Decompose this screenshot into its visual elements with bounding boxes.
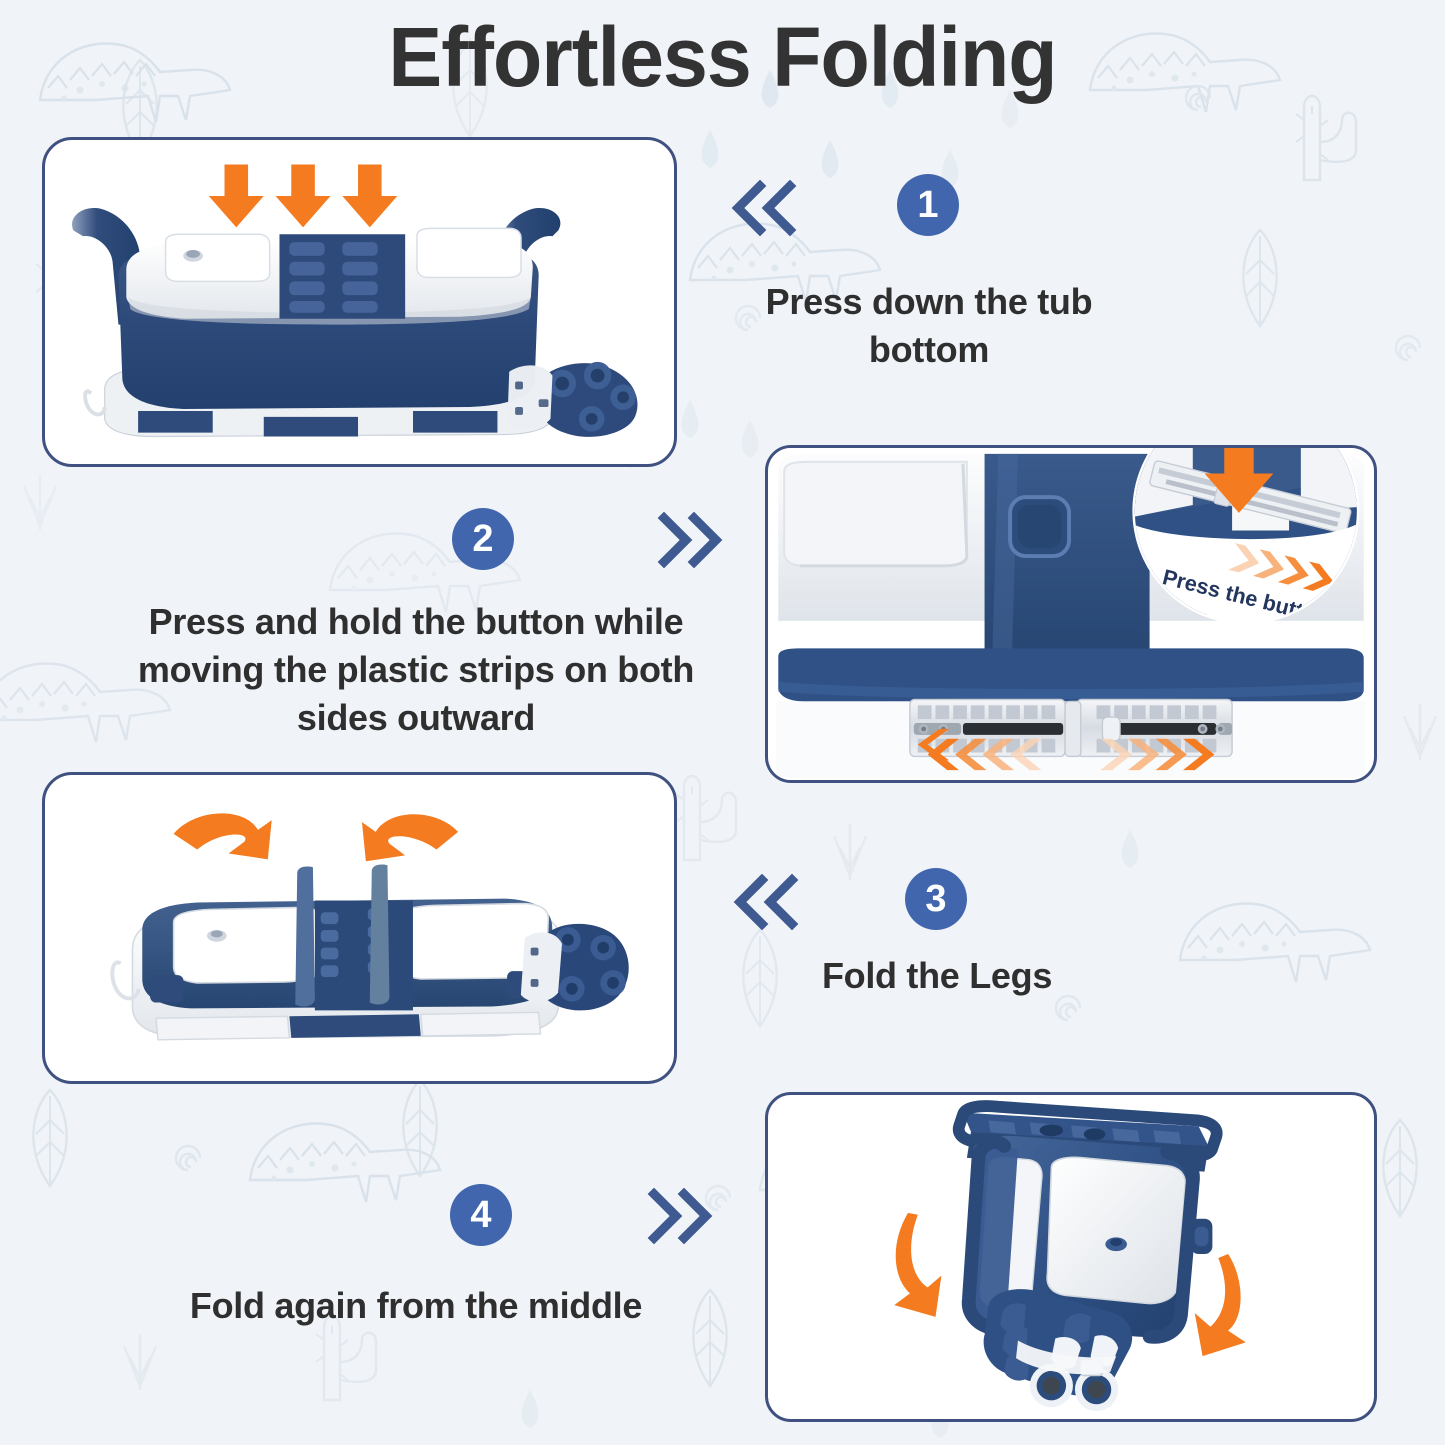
bathtub-folded-upright-illustration <box>768 1095 1374 1419</box>
bathtub-button-closeup-illustration: Press the button <box>768 448 1374 780</box>
orange-down-arrows <box>209 165 398 228</box>
orange-curved-arrows-inward <box>174 813 458 861</box>
chevron-double-right-icon <box>650 512 724 568</box>
chevron-double-right-icon <box>640 1188 714 1244</box>
chevron-double-left-icon <box>732 874 806 930</box>
step-4-text: Fold again from the middle <box>100 1282 732 1330</box>
chevron-double-left-icon <box>730 180 804 236</box>
photo-card-step-4 <box>765 1092 1377 1422</box>
bathtub-flattened-illustration <box>45 775 674 1081</box>
step-2-number: 2 <box>452 508 514 570</box>
step-3-number: 3 <box>905 868 967 930</box>
step-4-number: 4 <box>450 1184 512 1246</box>
plastic-strip-rails <box>910 699 1232 756</box>
infographic-root: Effortless Folding <box>0 0 1445 1445</box>
photo-card-step-2: Press the button <box>765 445 1377 783</box>
step-2-text: Press and hold the button while moving t… <box>90 598 742 742</box>
page-title: Effortless Folding <box>29 8 1416 106</box>
step-1-text: Press down the tub bottom <box>730 278 1128 374</box>
photo-card-step-1 <box>42 137 677 467</box>
bathtub-open-illustration <box>45 140 674 464</box>
step-1-number: 1 <box>897 174 959 236</box>
step-3-text: Fold the Legs <box>742 952 1132 1000</box>
photo-card-step-3 <box>42 772 677 1084</box>
